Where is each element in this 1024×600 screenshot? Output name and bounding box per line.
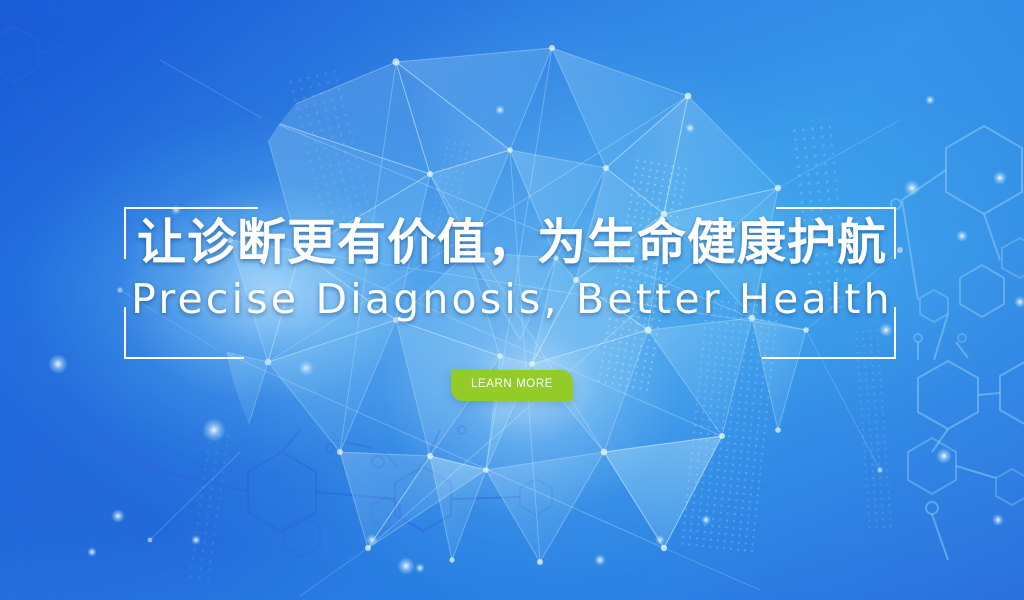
frame-top-left-horizontal — [124, 207, 258, 209]
cta-container: LEARN MORE — [0, 370, 1024, 401]
frame-bottom-left-vertical — [124, 307, 126, 359]
frame-bottom-right-vertical — [894, 307, 896, 359]
corner-bracket-frame — [124, 207, 896, 359]
hero-banner: 让诊断更有价值，为生命健康护航 Precise Diagnosis, Bette… — [0, 0, 1024, 600]
frame-bottom-right-horizontal — [762, 357, 896, 359]
learn-more-button[interactable]: LEARN MORE — [451, 370, 573, 401]
frame-top-left-vertical — [124, 207, 126, 259]
frame-top-right-vertical — [894, 207, 896, 259]
frame-bottom-left-horizontal — [124, 357, 244, 359]
frame-top-right-horizontal — [776, 207, 896, 209]
